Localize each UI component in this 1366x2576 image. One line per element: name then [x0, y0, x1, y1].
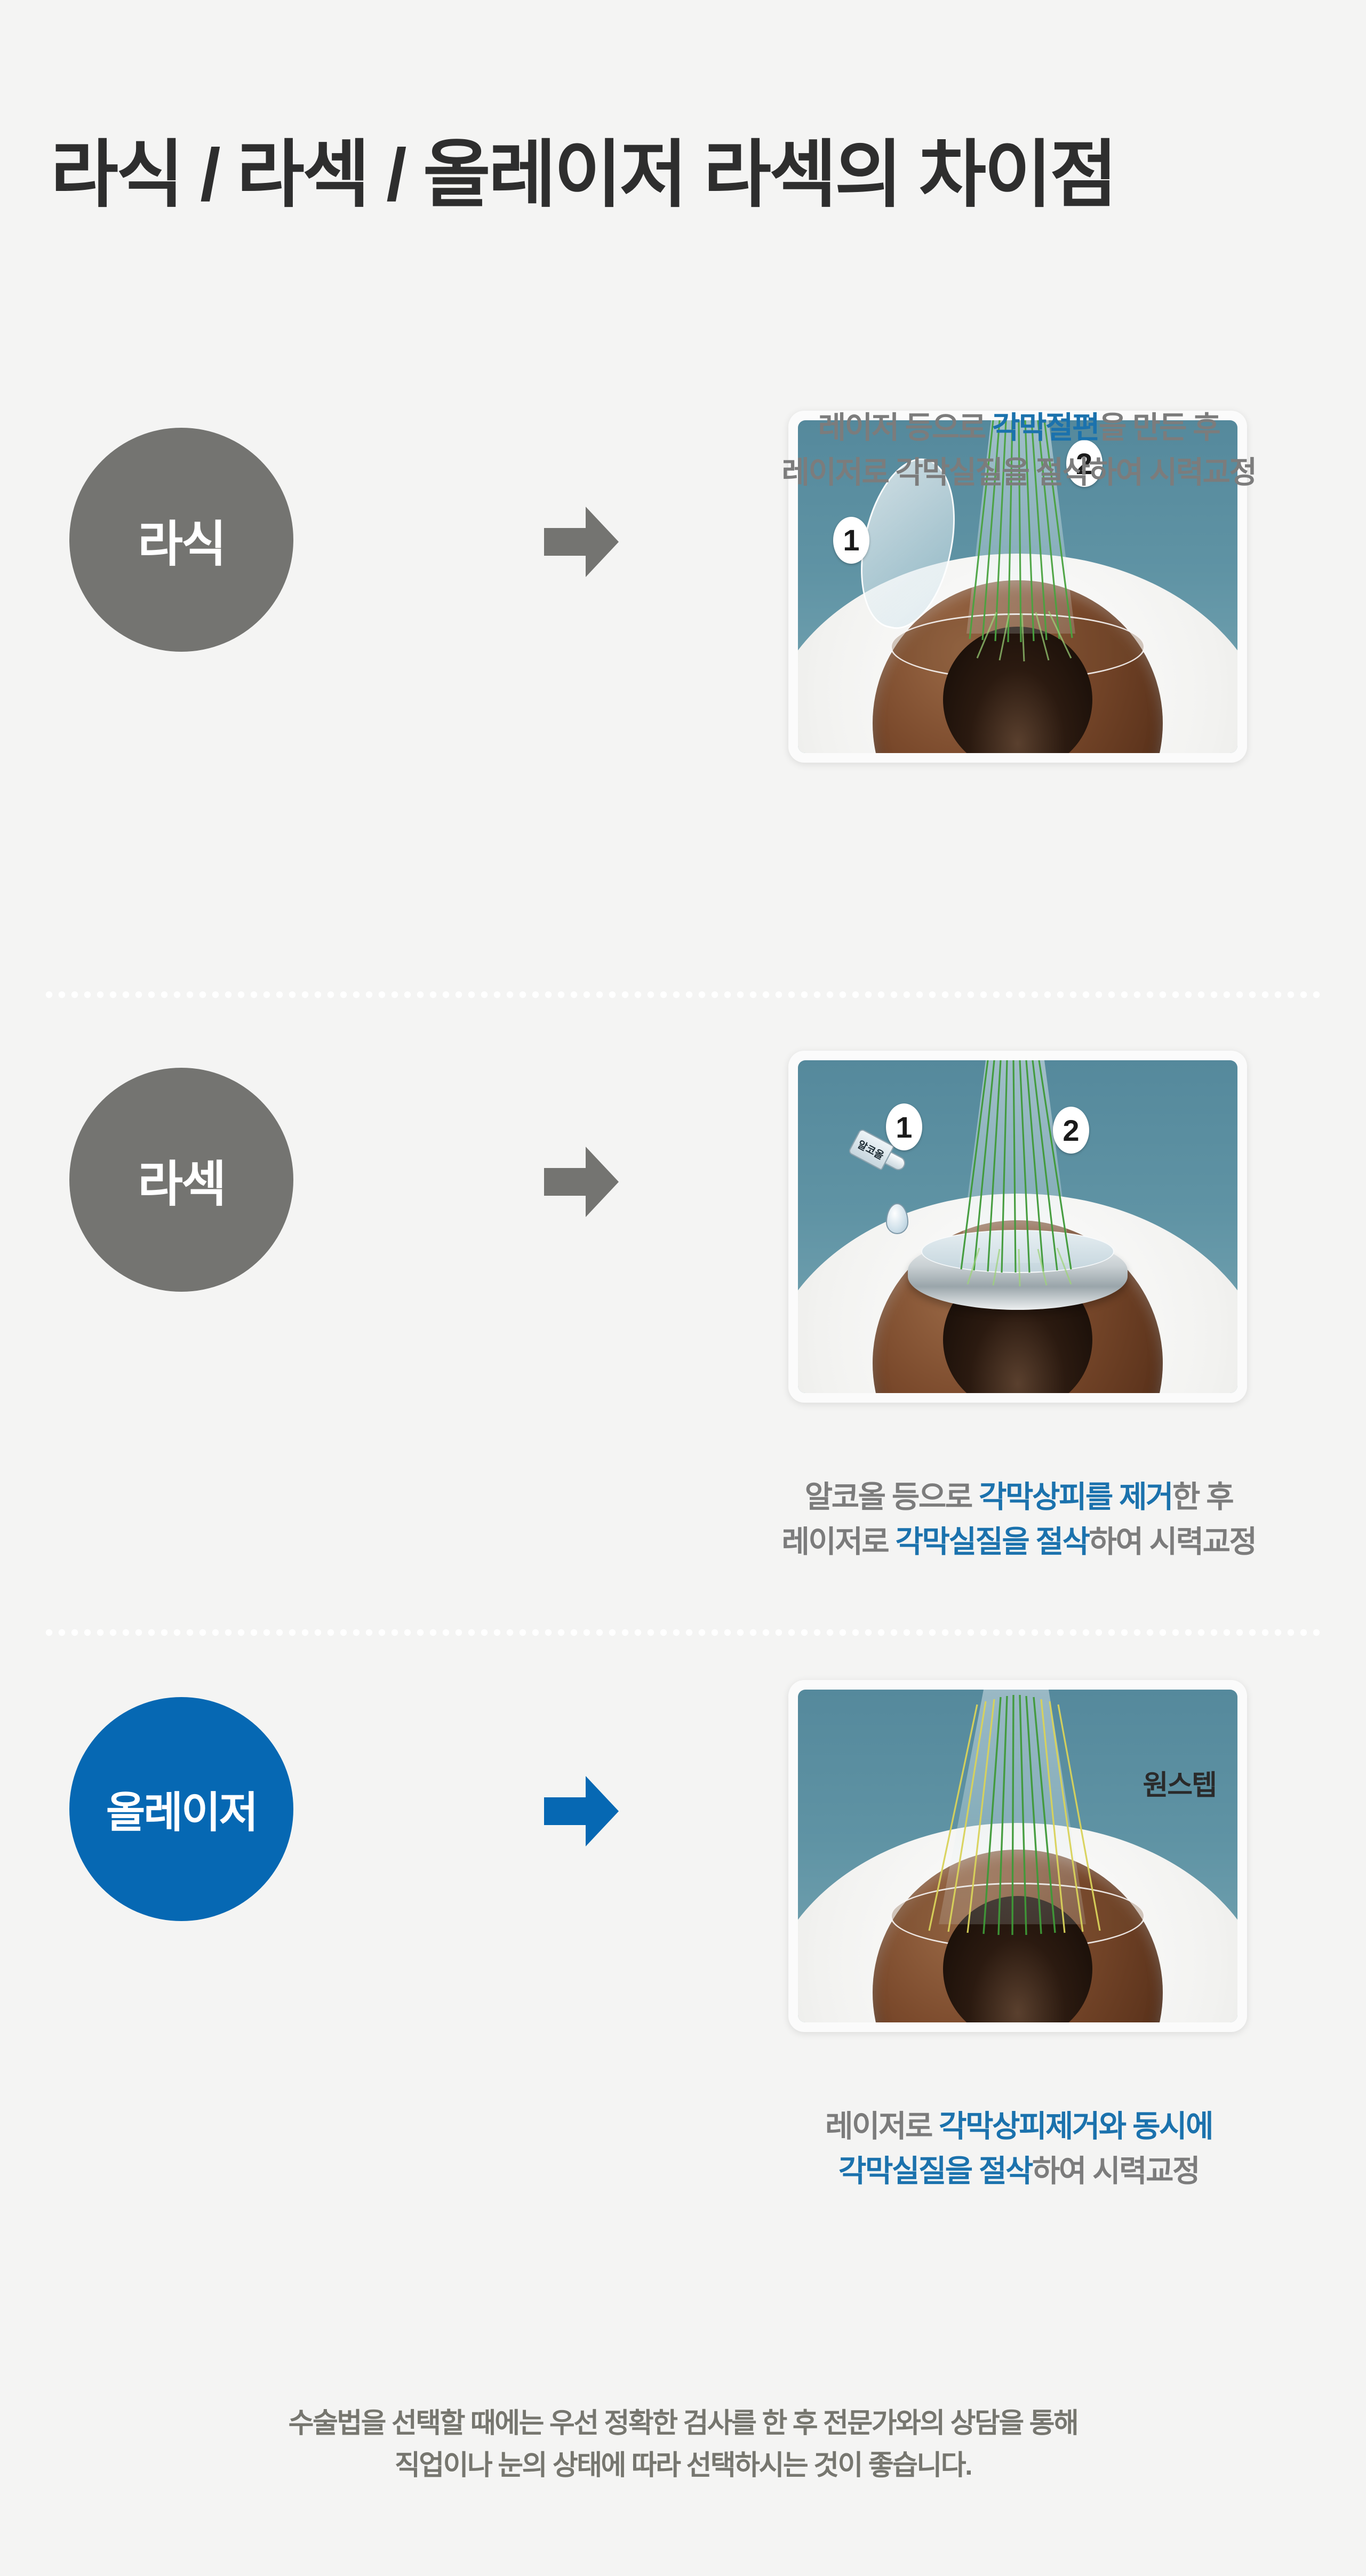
illustration-lasek: 알코올 [798, 1060, 1237, 1393]
laser-beam-icon [798, 1060, 1237, 1393]
caption-lasik: 레이저 등으로 각막절편을 만든 후 레이저로 각막실질을 절삭하여 시력교정 [704, 405, 1333, 495]
marker-1: 1 [886, 1103, 922, 1150]
arrow-right-icon [544, 1776, 619, 1846]
caption-line-1: 알코올 등으로 각막상피를 제거한 후 [704, 1475, 1333, 1519]
caption-line-1: 레이저로 각막상피제거와 동시에 [704, 2104, 1333, 2149]
illustration-panel-all-laser: 원스텝 [788, 1680, 1247, 2032]
caption-all-laser: 레이저로 각막상피제거와 동시에 각막실질을 절삭하여 시력교정 [704, 2104, 1333, 2194]
section-divider [43, 1629, 1323, 1636]
illustration-all-laser: 원스텝 [798, 1690, 1237, 2022]
laser-beam-icon [798, 1690, 1237, 2022]
footer-line-2: 직업이나 눈의 상태에 따라 선택하시는 것이 좋습니다. [0, 2445, 1366, 2487]
caption-line-1: 레이저 등으로 각막절편을 만든 후 [704, 405, 1333, 450]
footer-line-1: 수술법을 선택할 때에는 우선 정확한 검사를 한 후 전문가와의 상담을 통해 [0, 2403, 1366, 2445]
caption-line-2: 레이저로 각막실질을 절삭하여 시력교정 [704, 450, 1333, 495]
badge-label-lasik: 라식 [138, 505, 225, 575]
highlight-term: 각막상피제거와 동시에 [939, 2109, 1212, 2143]
highlight-term: 각막실질을 절삭 [838, 2154, 1032, 2188]
highlight-term: 각막상피를 제거 [979, 1480, 1172, 1514]
illustration-panel-lasek: 알코올 [788, 1051, 1247, 1403]
highlight-term: 각막실질을 절삭 [896, 1525, 1089, 1559]
badge-label-all-laser: 올레이저 [106, 1778, 257, 1840]
page-title: 라식 / 라섹 / 올레이저 라섹의 차이점 [51, 115, 1115, 221]
marker-2: 2 [1053, 1107, 1089, 1154]
caption-line-2: 각막실질을 절삭하여 시력교정 [704, 2149, 1333, 2194]
badge-label-lasek: 라섹 [138, 1145, 225, 1215]
caption-line-2: 레이저로 각막실질을 절삭하여 시력교정 [704, 1519, 1333, 1564]
caption-lasek: 알코올 등으로 각막상피를 제거한 후 레이저로 각막실질을 절삭하여 시력교정 [704, 1475, 1333, 1565]
section-all-laser: 올레이저 [0, 1675, 1366, 2315]
arrow-right-icon [544, 1147, 619, 1217]
marker-1: 1 [833, 517, 869, 564]
badge-circle-lasek[interactable]: 라섹 [69, 1068, 293, 1292]
section-divider [43, 991, 1323, 998]
footer-note: 수술법을 선택할 때에는 우선 정확한 검사를 한 후 전문가와의 상담을 통해… [0, 2403, 1366, 2487]
onestep-label: 원스텝 [1143, 1763, 1216, 1803]
highlight-term: 각막절편 [992, 411, 1099, 445]
badge-circle-lasik[interactable]: 라식 [69, 428, 293, 652]
arrow-right-icon [544, 507, 619, 577]
badge-circle-all-laser[interactable]: 올레이저 [69, 1697, 293, 1921]
infographic-page: { "page": { "title": "라식 / 라섹 / 올레이저 라섹의… [0, 0, 1366, 2576]
